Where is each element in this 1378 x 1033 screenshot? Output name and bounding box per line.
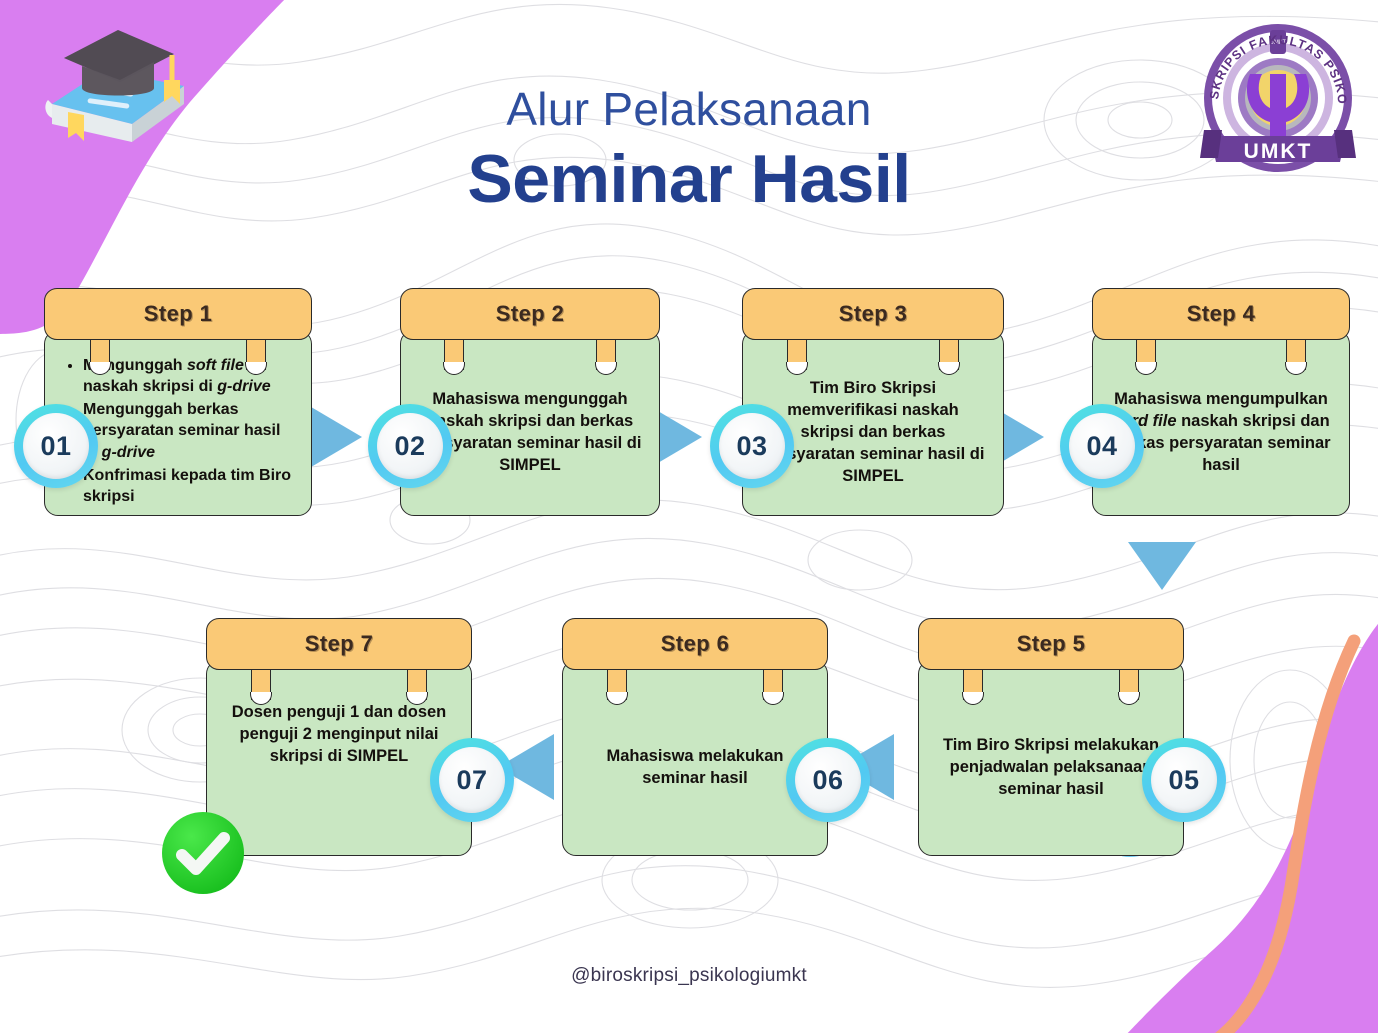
step-5-header-label: Step 5 xyxy=(1017,631,1085,657)
list-item: Mengunggah berkas persyaratan seminar ha… xyxy=(83,399,295,463)
step-4-text: Mahasiswa mengumpulkan hard file naskah … xyxy=(1109,388,1333,476)
footer-handle: @biroskripsi_psikologiumkt xyxy=(0,965,1378,987)
step-2-number: 02 xyxy=(394,431,425,462)
institution-logo: UMKT BIRO SKRIPSI FAKULTAS PSIKOLOGI UMK… xyxy=(1196,12,1360,180)
step-card-5[interactable]: Step 5 Tim Biro Skripsi melakukan penjad… xyxy=(918,618,1184,856)
logo-banner-text: UMKT xyxy=(1244,140,1313,163)
step-6-text: Mahasiswa melakukan seminar hasil xyxy=(579,745,811,789)
step-4-header-label: Step 4 xyxy=(1187,301,1255,327)
step-6-number-badge: 06 xyxy=(786,738,870,822)
step-card-3[interactable]: Step 3 Tim Biro Skripsi memverifikasi na… xyxy=(742,288,1004,516)
step-1-number: 01 xyxy=(40,431,71,462)
step-7-text: Dosen penguji 1 dan dosen penguji 2 meng… xyxy=(223,701,455,767)
step-card-4[interactable]: Step 4 Mahasiswa mengumpulkan hard file … xyxy=(1092,288,1350,516)
step-2-number-badge: 02 xyxy=(368,404,452,488)
step-card-2[interactable]: Step 2 Mahasiswa mengunggah naskah skrip… xyxy=(400,288,660,516)
step-5-header: Step 5 xyxy=(918,618,1184,670)
step-1-header: Step 1 xyxy=(44,288,312,340)
step-2-header-label: Step 2 xyxy=(496,301,564,327)
step-7-header: Step 7 xyxy=(206,618,472,670)
step-1-list: Mengunggah soft file naskah skripsi di g… xyxy=(61,355,295,510)
title-subtitle: Alur Pelaksanaan xyxy=(0,84,1378,135)
step-4-number: 04 xyxy=(1086,431,1117,462)
step-4-header: Step 4 xyxy=(1092,288,1350,340)
step-card-6[interactable]: Step 6 Mahasiswa melakukan seminar hasil… xyxy=(562,618,828,856)
step-5-number-badge: 05 xyxy=(1142,738,1226,822)
step-3-text: Tim Biro Skripsi memverifikasi naskah sk… xyxy=(759,377,987,488)
step-6-header-label: Step 6 xyxy=(661,631,729,657)
step-4-number-badge: 04 xyxy=(1060,404,1144,488)
step-6-body: Mahasiswa melakukan seminar hasil xyxy=(562,660,828,856)
arrow-step4-to-step5 xyxy=(1122,538,1202,596)
success-check-icon xyxy=(160,810,246,896)
step-3-number-badge: 03 xyxy=(710,404,794,488)
page-title: Seminar Hasil xyxy=(0,139,1378,219)
step-5-number: 05 xyxy=(1168,765,1199,796)
step-3-header-label: Step 3 xyxy=(839,301,907,327)
step-5-body: Tim Biro Skripsi melakukan penjadwalan p… xyxy=(918,660,1184,856)
step-3-number: 03 xyxy=(736,431,767,462)
step-7-number: 07 xyxy=(456,765,487,796)
step-1-header-label: Step 1 xyxy=(144,301,212,327)
step-6-number: 06 xyxy=(812,765,843,796)
step-3-header: Step 3 xyxy=(742,288,1004,340)
step-1-number-badge: 01 xyxy=(14,404,98,488)
step-card-1[interactable]: Step 1 Mengunggah soft file naskah skrip… xyxy=(44,288,312,516)
step-5-text: Tim Biro Skripsi melakukan penjadwalan p… xyxy=(935,734,1167,800)
infographic-canvas: UMKT BIRO SKRIPSI FAKULTAS PSIKOLOGI UMK… xyxy=(0,0,1378,1033)
decorative-blob-bottom-left xyxy=(0,893,240,1033)
page-title-block: Alur Pelaksanaan Seminar Hasil xyxy=(0,84,1378,219)
step-2-text: Mahasiswa mengunggah naskah skripsi dan … xyxy=(417,388,643,476)
step-7-header-label: Step 7 xyxy=(305,631,373,657)
step-2-header: Step 2 xyxy=(400,288,660,340)
step-7-number-badge: 07 xyxy=(430,738,514,822)
step-6-header: Step 6 xyxy=(562,618,828,670)
list-item: Konfrimasi kepada tim Biro skripsi xyxy=(83,465,295,508)
